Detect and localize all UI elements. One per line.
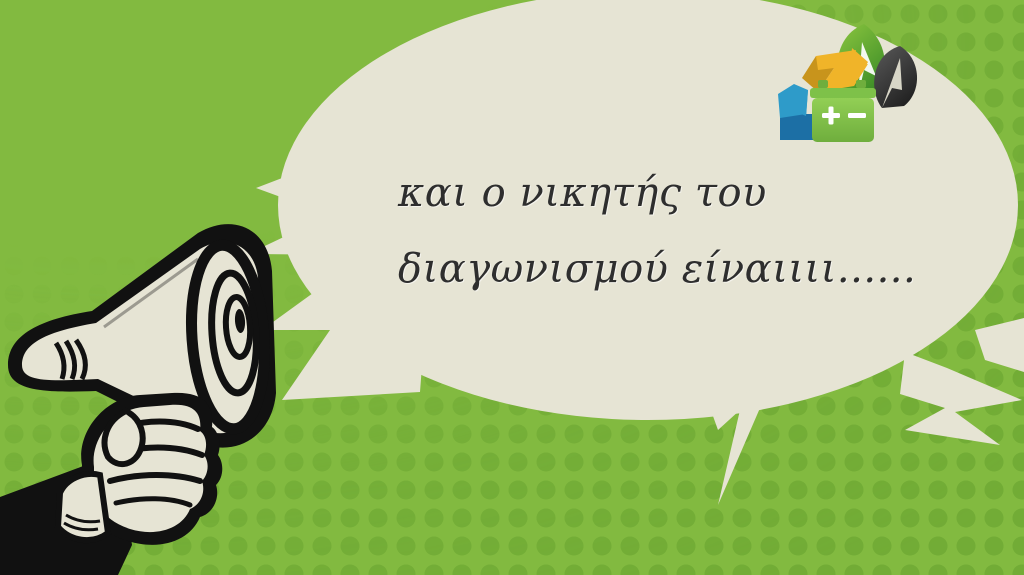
battery-icon: [810, 80, 876, 142]
headline-text: και ο νικητής του διαγωνισμού είναιιιι..…: [398, 155, 978, 307]
megaphone-illustration: [0, 215, 300, 575]
bubble-spike-right: [900, 352, 1022, 445]
battery-recycling-logo: [772, 18, 924, 158]
gloved-hand: [0, 393, 222, 575]
headline-line-1: και ο νικητής του: [398, 155, 978, 231]
battery-minus-symbol: [848, 113, 866, 118]
bubble-spike-right-outer: [975, 318, 1024, 372]
headline-line-2: διαγωνισμού είναιιιι......: [398, 231, 978, 307]
poster-canvas: και ο νικητής του διαγωνισμού είναιιιι..…: [0, 0, 1024, 575]
